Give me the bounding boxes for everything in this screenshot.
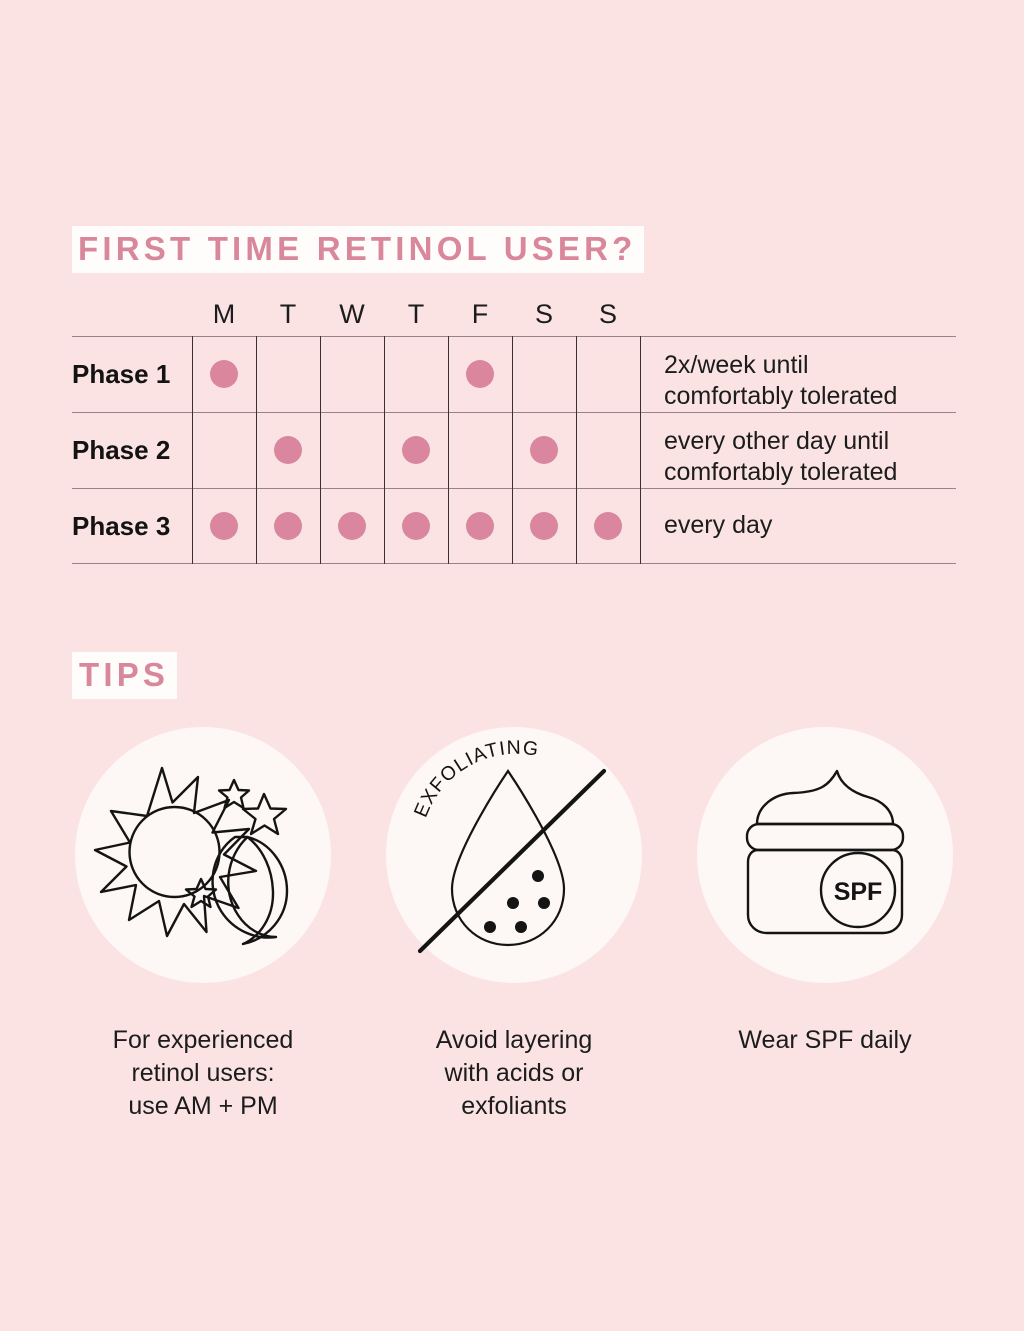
tip-caption-1-line-1: For experienced	[113, 1024, 294, 1057]
grid-vrule-5	[512, 336, 513, 564]
page-title: FIRST TIME RETINOL USER?	[72, 226, 644, 273]
grid-vrule-3	[384, 336, 385, 564]
tip-caption-3-line-1: Wear SPF daily	[738, 1024, 911, 1057]
dot-phase3-tue	[274, 512, 302, 540]
tip-card-am-pm: For experienced retinol users: use AM + …	[72, 727, 334, 1123]
table-row-label-phase-3: Phase 3	[72, 488, 190, 564]
grid-vrule-0	[192, 336, 193, 564]
note-phase-2-line-1: every other day until	[664, 426, 964, 457]
dot-phase1-fri	[466, 360, 494, 388]
note-phase-3-line-1: every day	[664, 510, 964, 541]
grid-hrule-top	[72, 336, 956, 337]
grain-dot-3	[538, 897, 550, 909]
page-title-text: FIRST TIME RETINOL USER?	[72, 226, 644, 273]
grain-dot-1	[532, 870, 544, 882]
tip-caption-2-line-1: Avoid layering	[436, 1024, 593, 1057]
tip-caption-1-line-3: use AM + PM	[113, 1090, 294, 1123]
tip-caption-2-line-2: with acids or	[436, 1057, 593, 1090]
day-header-fri: F	[448, 294, 512, 334]
tip-icon-circle-3: SPF	[697, 727, 953, 983]
tips-heading-text: TIPS	[72, 652, 177, 699]
grain-dot-4	[484, 921, 496, 933]
grid-vrule-1	[256, 336, 257, 564]
note-phase-3: every day	[664, 510, 964, 541]
note-phase-2-line-2: comfortably tolerated	[664, 457, 964, 488]
tip-card-no-exfoliants: EXFOLIATING Avoid layering with acids or…	[383, 727, 645, 1123]
tip-caption-1: For experienced retinol users: use AM + …	[113, 1024, 294, 1123]
sun-moon-stars-icon	[88, 740, 318, 970]
day-header-wed: W	[320, 294, 384, 334]
tips-row: For experienced retinol users: use AM + …	[72, 727, 956, 1123]
tip-icon-circle-2: EXFOLIATING	[386, 727, 642, 983]
tip-caption-2-line-3: exfoliants	[436, 1090, 593, 1123]
schedule-grid: Phase 1 2x/week until comfortably tolera…	[72, 336, 956, 564]
retinol-schedule-table: M T W T F S S Phase 1 2x/week until comf…	[72, 294, 956, 564]
grid-hrule-bottom	[72, 563, 956, 564]
grid-vrule-7	[640, 336, 641, 564]
grid-vrule-6	[576, 336, 577, 564]
day-header-sun: S	[576, 294, 640, 334]
day-header-tue: T	[256, 294, 320, 334]
grid-vrule-4	[448, 336, 449, 564]
tip-icon-circle-1	[75, 727, 331, 983]
tip-card-spf: SPF Wear SPF daily	[694, 727, 956, 1123]
tip-caption-1-line-2: retinol users:	[113, 1057, 294, 1090]
tip-caption-2: Avoid layering with acids or exfoliants	[436, 1024, 593, 1123]
tips-heading: TIPS	[72, 652, 177, 699]
dot-phase1-mon	[210, 360, 238, 388]
dot-phase3-mon	[210, 512, 238, 540]
note-phase-2: every other day until comfortably tolera…	[664, 426, 964, 488]
note-phase-1-line-1: 2x/week until	[664, 350, 964, 381]
day-header-thu: T	[384, 294, 448, 334]
dot-phase2-sat	[530, 436, 558, 464]
grain-dot-2	[507, 897, 519, 909]
dot-phase3-thu	[402, 512, 430, 540]
spf-cream-jar-icon: SPF	[717, 747, 933, 963]
grain-dot-5	[515, 921, 527, 933]
table-row-label-phase-2: Phase 2	[72, 412, 190, 488]
dot-phase3-sat	[530, 512, 558, 540]
dot-phase3-fri	[466, 512, 494, 540]
day-header-row: M T W T F S S	[72, 294, 956, 336]
no-exfoliating-droplet-icon: EXFOLIATING	[396, 737, 632, 973]
dot-phase3-wed	[338, 512, 366, 540]
grid-vrule-2	[320, 336, 321, 564]
dot-phase2-thu	[402, 436, 430, 464]
dot-phase2-tue	[274, 436, 302, 464]
spf-badge-label: SPF	[834, 878, 883, 906]
dot-phase3-sun	[594, 512, 622, 540]
grid-hrule-1	[72, 412, 956, 413]
day-header-mon: M	[192, 294, 256, 334]
note-phase-1-line-2: comfortably tolerated	[664, 381, 964, 412]
exfoliating-label: EXFOLIATING	[410, 737, 541, 820]
grid-hrule-2	[72, 488, 956, 489]
tip-caption-3: Wear SPF daily	[738, 1024, 911, 1057]
day-header-sat: S	[512, 294, 576, 334]
prohibition-slash	[420, 771, 604, 951]
table-row-label-phase-1: Phase 1	[72, 336, 190, 412]
note-phase-1: 2x/week until comfortably tolerated	[664, 350, 964, 412]
